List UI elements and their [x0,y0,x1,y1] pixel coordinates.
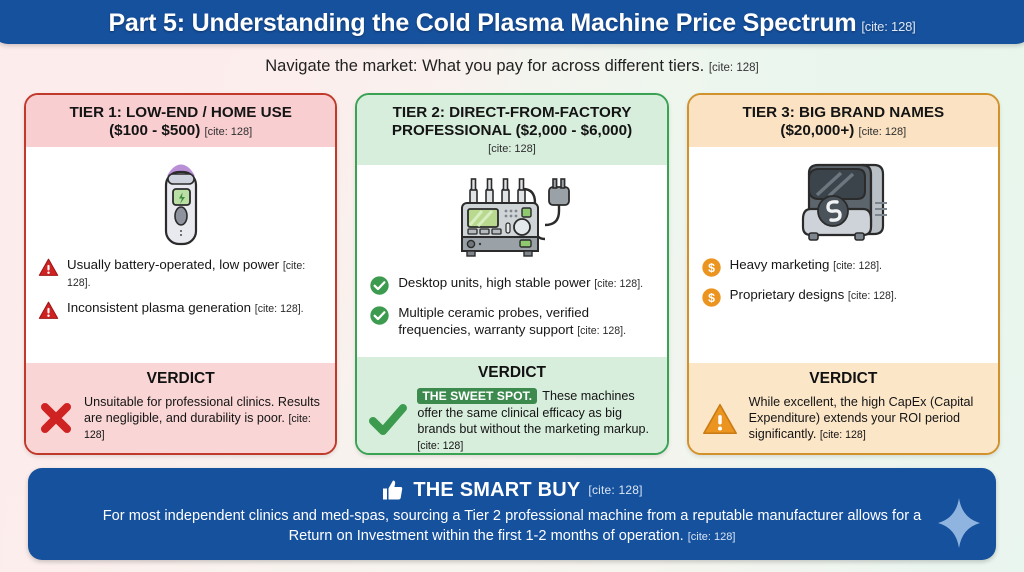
tier-3-verdict-label: VERDICT [700,370,987,388]
sweet-spot-badge: THE SWEET SPOT. [417,388,537,404]
tier-2-bullet-1-text-wrap: Multiple ceramic probes, verified freque… [398,305,654,339]
tier-2-bullet-1: Multiple ceramic probes, verified freque… [369,305,654,339]
tier-3-bullet-0: $ Heavy marketing [cite: 128]. [701,257,986,278]
handheld-wand-device-icon [153,156,209,250]
tier-1-header: TIER 1: LOW-END / HOME USE ($100 - $500)… [26,95,335,147]
smart-buy-body: For most independent clinics and med-spa… [28,502,996,546]
tier-3-verdict-row: While excellent, the high CapEx (Capital… [700,394,987,443]
tier-3-verdict: VERDICT While excellent, the high CapEx … [689,363,998,453]
tier-1-title-line2: ($100 - $500) [109,122,200,139]
tier-1-bullet-1-text: Inconsistent plasma generation [67,300,255,315]
tier-2-verdict-label: VERDICT [368,364,655,382]
tier-1-bullet-0-text: Usually battery-operated, low power [67,257,283,272]
tier-3-bullets: $ Heavy marketing [cite: 128]. $ Proprie… [689,253,998,363]
tier-1-bullet-1-cite: [cite: 128]. [255,303,304,315]
orange-warning-triangle-icon [700,400,740,438]
tier-3-verdict-text-wrap: While excellent, the high CapEx (Capital… [749,394,987,443]
tier-2-bullets: Desktop units, high stable power [cite: … [357,271,666,358]
green-check-circle-icon [369,305,390,326]
thumbs-up-icon [381,478,405,502]
tier-1-title-cite: [cite: 128] [205,126,253,138]
tier-3-bullet-0-cite: [cite: 128]. [833,260,882,272]
page-title-text: Part 5: Understanding the Cold Plasma Ma… [108,9,856,37]
tier-3-bullet-1: $ Proprietary designs [cite: 128]. [701,287,986,308]
tier-1-bullet-0-text-wrap: Usually battery-operated, low power [cit… [67,257,323,291]
tier-1-verdict-label: VERDICT [37,370,324,388]
tier-2-bullet-0: Desktop units, high stable power [cite: … [369,275,654,296]
svg-text:$: $ [708,261,715,275]
tier-1-verdict: VERDICT Unsuitable for professional clin… [26,363,335,453]
tier-3-title-line1: TIER 3: BIG BRAND NAMES [742,104,944,121]
tier-2-bullet-0-text-wrap: Desktop units, high stable power [cite: … [398,275,643,292]
tier-card-1[interactable]: TIER 1: LOW-END / HOME USE ($100 - $500)… [24,93,337,455]
tier-2-title-cite: [cite: 128] [488,143,536,155]
page-title-cite: [cite: 128] [861,19,915,34]
tier-3-title-line2: ($20,000+) [780,122,854,139]
smart-buy-body-text: For most independent clinics and med-spa… [103,508,921,544]
tier-3-bullet-0-text: Heavy marketing [730,257,833,272]
tier-1-bullet-1: Inconsistent plasma generation [cite: 12… [38,300,323,321]
tier-1-bullet-1-text-wrap: Inconsistent plasma generation [cite: 12… [67,300,304,317]
tier-3-title-cite: [cite: 128] [859,126,907,138]
green-check-circle-icon [369,275,390,296]
tier-2-verdict-cite: [cite: 128] [417,440,463,452]
warning-triangle-icon [38,300,59,321]
smart-buy-body-cite: [cite: 128] [688,531,736,543]
tier-2-verdict-text-wrap: THE SWEET SPOT. These machines offer the… [417,388,655,453]
desktop-plasma-unit-device-icon [448,175,576,267]
tier-2-verdict: VERDICT THE SWEET SPOT. These machines o… [357,357,666,455]
tier-3-bullet-1-cite: [cite: 128]. [848,290,897,302]
dollar-coin-icon: $ [701,287,722,308]
tier-3-device-illustration [689,147,998,253]
sparkle-icon [936,496,982,550]
tier-1-verdict-row: Unsuitable for professional clinics. Res… [37,394,324,443]
tier-1-title-line1: TIER 1: LOW-END / HOME USE [69,104,291,121]
green-checkmark-icon [368,402,408,440]
tier-3-header: TIER 3: BIG BRAND NAMES ($20,000+) [cite… [689,95,998,147]
tier-1-bullets: Usually battery-operated, low power [cit… [26,253,335,363]
tier-2-bullet-0-cite: [cite: 128]. [594,278,643,290]
tier-3-body: $ Heavy marketing [cite: 128]. $ Proprie… [689,147,998,363]
tier-3-title-line2-wrap: ($20,000+) [cite: 128] [699,122,988,140]
tier-2-header: TIER 2: DIRECT-FROM-FACTORY PROFESSIONAL… [357,95,666,165]
smart-buy-title-cite: [cite: 128] [588,483,642,497]
smart-buy-banner: THE SMART BUY [cite: 128] For most indep… [28,468,996,560]
tier-1-device-illustration [26,147,335,253]
premium-console-device-icon [785,157,901,249]
infographic-canvas: Part 5: Understanding the Cold Plasma Ma… [0,0,1024,572]
page-title: Part 5: Understanding the Cold Plasma Ma… [108,9,915,38]
subtitle: Navigate the market: What you pay for ac… [0,57,1024,76]
tier-2-title-line1: TIER 2: DIRECT-FROM-FACTORY [393,104,632,121]
tier-2-title-line2: PROFESSIONAL ($2,000 - $6,000) [367,122,656,140]
dollar-coin-icon: $ [701,257,722,278]
tier-card-3[interactable]: TIER 3: BIG BRAND NAMES ($20,000+) [cite… [687,93,1000,455]
tier-3-bullet-1-text-wrap: Proprietary designs [cite: 128]. [730,287,897,304]
smart-buy-title: THE SMART BUY [413,479,580,502]
tier-1-title-line2-wrap: ($100 - $500) [cite: 128] [36,122,325,140]
tier-cards-row: TIER 1: LOW-END / HOME USE ($100 - $500)… [24,93,1000,455]
tier-3-verdict-cite: [cite: 128] [820,429,866,441]
tier-2-bullet-1-cite: [cite: 128]. [577,325,626,337]
header-bar: Part 5: Understanding the Cold Plasma Ma… [0,0,1024,44]
tier-1-verdict-text: Unsuitable for professional clinics. Res… [84,395,320,425]
tier-2-bullet-0-text: Desktop units, high stable power [398,275,594,290]
tier-2-bullet-1-text: Multiple ceramic probes, verified freque… [398,305,589,337]
svg-text:$: $ [708,291,715,305]
tier-2-device-illustration [357,165,666,271]
tier-1-bullet-0: Usually battery-operated, low power [cit… [38,257,323,291]
tier-3-bullet-1-text: Proprietary designs [730,287,848,302]
smart-buy-title-row: THE SMART BUY [cite: 128] [28,468,996,502]
tier-2-verdict-row: THE SWEET SPOT. These machines offer the… [368,388,655,453]
subtitle-cite: [cite: 128] [709,62,759,74]
tier-card-2[interactable]: TIER 2: DIRECT-FROM-FACTORY PROFESSIONAL… [355,93,668,455]
tier-3-bullet-0-text-wrap: Heavy marketing [cite: 128]. [730,257,882,274]
warning-triangle-icon [38,257,59,278]
subtitle-text: Navigate the market: What you pay for ac… [265,57,704,75]
red-x-icon [37,399,75,437]
tier-2-body: Desktop units, high stable power [cite: … [357,165,666,358]
tier-1-verdict-text-wrap: Unsuitable for professional clinics. Res… [84,394,324,443]
tier-1-body: Usually battery-operated, low power [cit… [26,147,335,363]
